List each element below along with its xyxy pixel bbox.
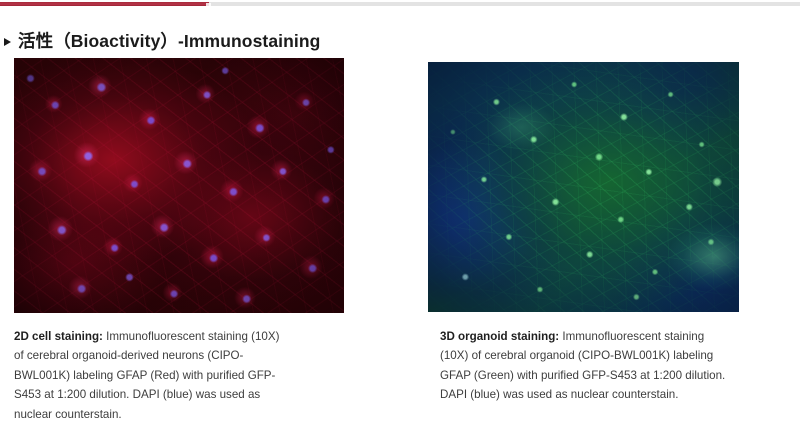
figure-3d (428, 62, 739, 312)
immunofluorescence-2d-micrograph[interactable] (14, 58, 344, 313)
micrograph-3d-vignette-layer (428, 62, 739, 312)
slide-progress-bar[interactable] (0, 2, 800, 6)
page-title-text: 活性（Bioactivity）-Immunostaining (18, 28, 320, 53)
immunofluorescence-3d-micrograph[interactable] (428, 62, 739, 312)
figure-2d-caption-body: Immunofluorescent staining (10X) of cere… (14, 330, 279, 421)
slide-progress-handle[interactable] (206, 3, 211, 9)
figure-2d-caption-label: 2D cell staining: (14, 330, 103, 343)
slide-progress-fill (0, 2, 209, 6)
figure-3d-caption: 3D organoid staining: Immunofluorescent … (440, 327, 730, 405)
triangle-right-icon (4, 38, 11, 46)
micrograph-2d-vignette-layer (14, 58, 344, 313)
figure-3d-caption-label: 3D organoid staining: (440, 330, 559, 343)
figure-2d-caption: 2D cell staining: Immunofluorescent stai… (14, 327, 286, 424)
figure-2d (14, 58, 344, 313)
page-title: 活性（Bioactivity）-Immunostaining (4, 28, 320, 53)
